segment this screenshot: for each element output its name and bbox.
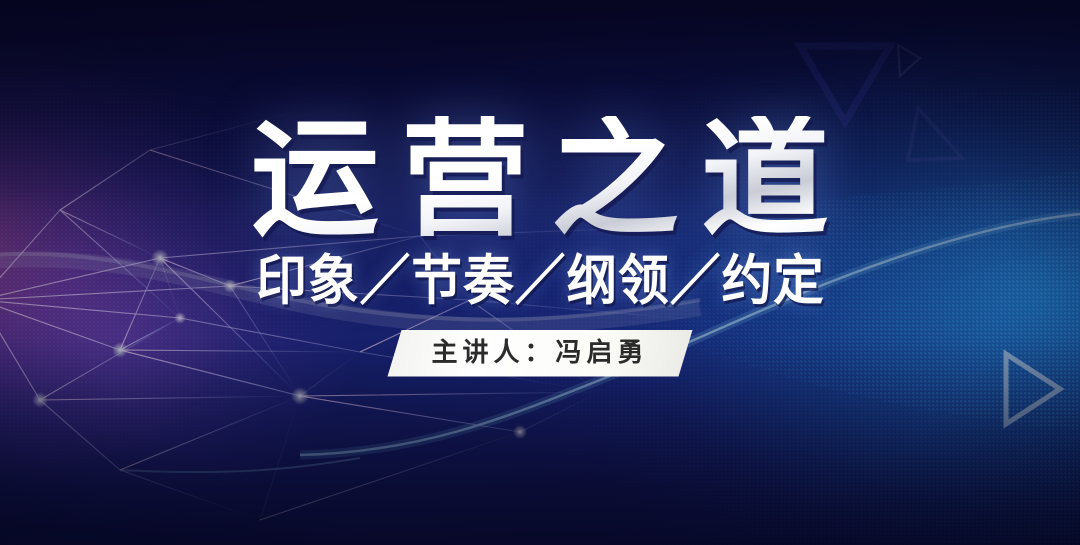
poster-content: 运营之道 印象／节奏／纲领／约定 主讲人：冯启勇 <box>0 0 1080 545</box>
subtitle-topics: 印象／节奏／纲领／约定 <box>256 254 825 308</box>
speaker-band: 主讲人：冯启勇 <box>387 330 692 377</box>
poster-banner: 运营之道 印象／节奏／纲领／约定 主讲人：冯启勇 <box>0 0 1080 545</box>
speaker-label: 主讲人：冯启勇 <box>431 336 648 369</box>
page-title: 运营之道 <box>229 116 851 244</box>
speaker-banner: 主讲人：冯启勇 <box>387 330 692 377</box>
